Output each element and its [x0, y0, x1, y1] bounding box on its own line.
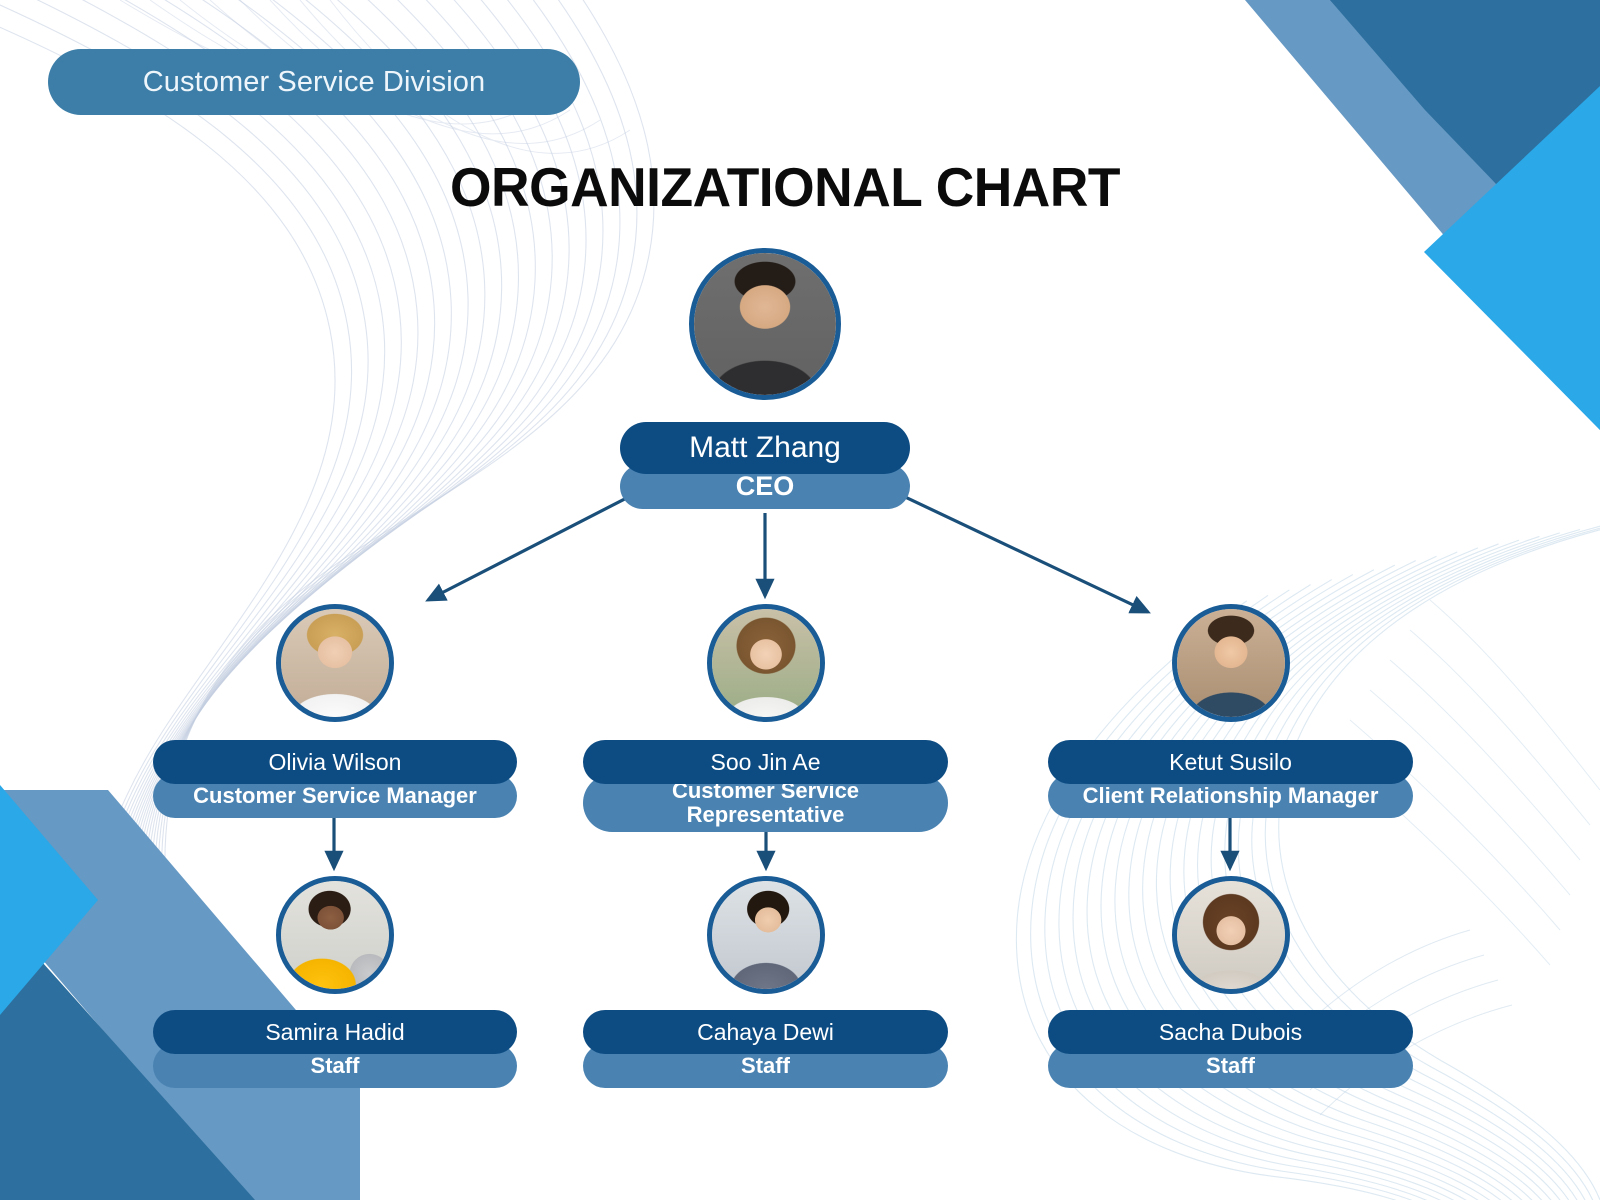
avatar	[276, 604, 394, 722]
org-node-ceo[interactable]: Matt Zhang CEO	[620, 248, 910, 509]
org-node-manager-3[interactable]: Ketut Susilo Client Relationship Manager	[1048, 604, 1413, 818]
node-name-pill: Samira Hadid	[153, 1010, 517, 1054]
portrait-photo	[712, 881, 820, 989]
portrait-photo	[281, 881, 389, 989]
portrait-photo	[712, 609, 820, 717]
node-name-pill: Ketut Susilo	[1048, 740, 1413, 784]
page-title: ORGANIZATIONAL CHART	[24, 155, 1547, 219]
org-node-manager-1[interactable]: Olivia Wilson Customer Service Manager	[153, 604, 517, 818]
node-name-pill: Sacha Dubois	[1048, 1010, 1413, 1054]
portrait-photo	[1177, 881, 1285, 989]
node-name: Samira Hadid	[265, 1019, 404, 1046]
portrait-photo	[694, 253, 836, 395]
node-name: Soo Jin Ae	[711, 749, 821, 776]
node-name-pill: Cahaya Dewi	[583, 1010, 948, 1054]
avatar	[1172, 604, 1290, 722]
node-name: Sacha Dubois	[1159, 1019, 1302, 1046]
portrait-photo	[1177, 609, 1285, 717]
node-role: Customer Service Representative	[593, 779, 938, 827]
node-role: Customer Service Manager	[193, 784, 477, 808]
division-badge: Customer Service Division	[48, 49, 580, 115]
edge-ceo-to-olivia	[428, 487, 648, 600]
node-role: CEO	[736, 472, 795, 501]
node-name: Matt Zhang	[689, 431, 841, 465]
node-name: Ketut Susilo	[1169, 749, 1292, 776]
org-node-staff-2[interactable]: Cahaya Dewi Staff	[583, 876, 948, 1088]
node-name-pill: Soo Jin Ae	[583, 740, 948, 784]
node-name: Olivia Wilson	[269, 749, 402, 776]
avatar	[276, 876, 394, 994]
organizational-chart-slide: Customer Service Division ORGANIZATIONAL…	[0, 0, 1600, 1200]
node-name-pill: Matt Zhang	[620, 422, 910, 474]
edge-ceo-to-ketut	[884, 487, 1148, 612]
node-name-pill: Olivia Wilson	[153, 740, 517, 784]
portrait-photo	[281, 609, 389, 717]
node-role: Staff	[311, 1054, 360, 1078]
node-name: Cahaya Dewi	[697, 1019, 834, 1046]
org-node-staff-1[interactable]: Samira Hadid Staff	[153, 876, 517, 1088]
node-role: Staff	[1206, 1054, 1255, 1078]
node-role: Staff	[741, 1054, 790, 1078]
avatar	[707, 876, 825, 994]
division-badge-label: Customer Service Division	[143, 66, 486, 99]
org-node-staff-3[interactable]: Sacha Dubois Staff	[1048, 876, 1413, 1088]
avatar	[1172, 876, 1290, 994]
org-node-manager-2[interactable]: Soo Jin Ae Customer Service Representati…	[583, 604, 948, 832]
avatar	[707, 604, 825, 722]
node-role: Client Relationship Manager	[1083, 784, 1379, 808]
avatar	[689, 248, 841, 400]
